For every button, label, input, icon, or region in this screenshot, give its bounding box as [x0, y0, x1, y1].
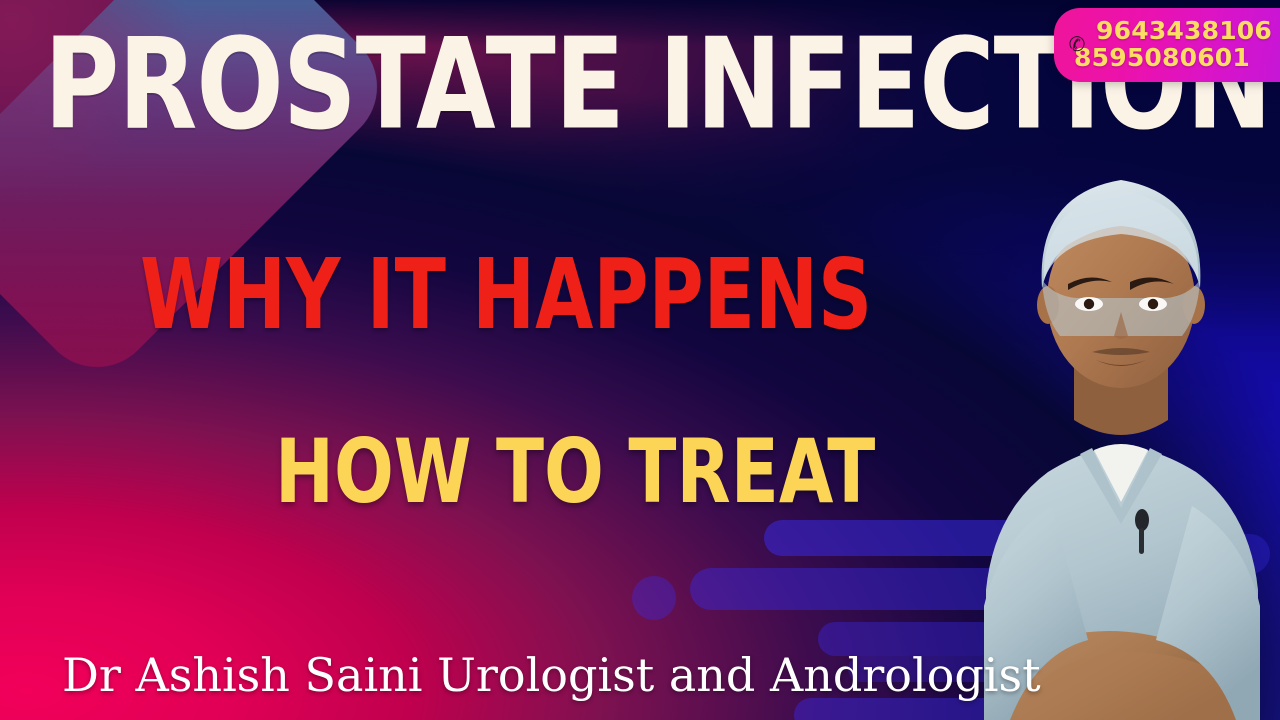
phone-number-secondary[interactable]: 8595080601: [1074, 44, 1272, 71]
subtitle-how-to-treat: HOW TO TREAT: [275, 428, 875, 516]
phone-number-primary[interactable]: 9643438106: [1096, 17, 1272, 44]
contact-phone-badge[interactable]: ✆ 9643438106 8595080601: [1054, 8, 1280, 82]
presenter-caption: Dr Ashish Saini Urologist and Andrologis…: [62, 648, 1041, 702]
phone-icon: ✆: [1066, 34, 1088, 56]
page-title: PROSTATE INFECTION: [44, 22, 1074, 147]
subtitle-why-it-happens: WHY IT HAPPENS: [140, 248, 872, 345]
thumbnail-canvas: PROSTATE INFECTION WHY IT HAPPENS HOW TO…: [0, 0, 1280, 720]
phone-number-list: 9643438106 8595080601: [1096, 17, 1272, 71]
